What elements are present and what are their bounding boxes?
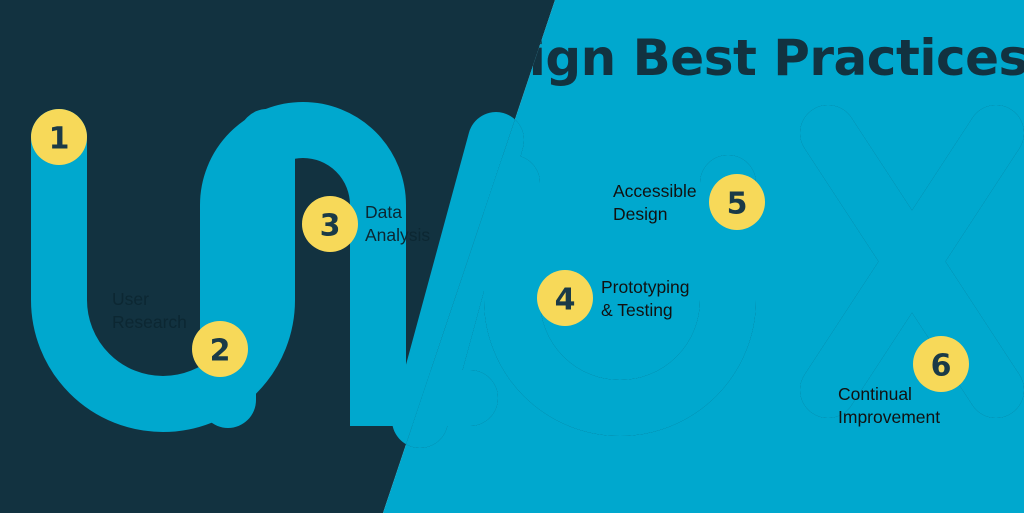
step-badge-1[interactable]: 1 bbox=[31, 109, 87, 165]
step-badge-2[interactable]: 2 bbox=[192, 321, 248, 377]
step-label-2-line2: Research bbox=[112, 312, 187, 332]
step-label-3-line2: Analysis bbox=[365, 225, 430, 245]
step-label-4-line2: & Testing bbox=[601, 300, 673, 320]
step-badge-1-number: 1 bbox=[49, 122, 70, 157]
step-badge-4[interactable]: 4 bbox=[537, 270, 593, 326]
step-badge-3[interactable]: 3 bbox=[302, 196, 358, 252]
infographic-canvas: UX Design Best Practices User Research D… bbox=[0, 0, 1024, 513]
step-badge-6[interactable]: 6 bbox=[913, 336, 969, 392]
step-badge-3-number: 3 bbox=[320, 209, 341, 244]
step-label-3-line1: Data bbox=[365, 202, 402, 222]
step-badge-4-number: 4 bbox=[555, 283, 576, 318]
step-badge-5[interactable]: 5 bbox=[709, 174, 765, 230]
step-label-4-line1: Prototyping bbox=[601, 277, 690, 297]
infographic-artwork: UX Design Best Practices User Research D… bbox=[0, 0, 1024, 513]
step-badge-6-number: 6 bbox=[931, 349, 952, 384]
step-label-6-line1: Continual bbox=[838, 384, 912, 404]
step-label-5-line1: Accessible bbox=[613, 181, 697, 201]
step-badge-5-number: 5 bbox=[727, 187, 748, 222]
step-label-5-line2: Design bbox=[613, 204, 667, 224]
step-label-6-line2: Improvement bbox=[838, 407, 940, 427]
step-badge-2-number: 2 bbox=[210, 334, 231, 369]
step-label-2-line1: User bbox=[112, 289, 149, 309]
